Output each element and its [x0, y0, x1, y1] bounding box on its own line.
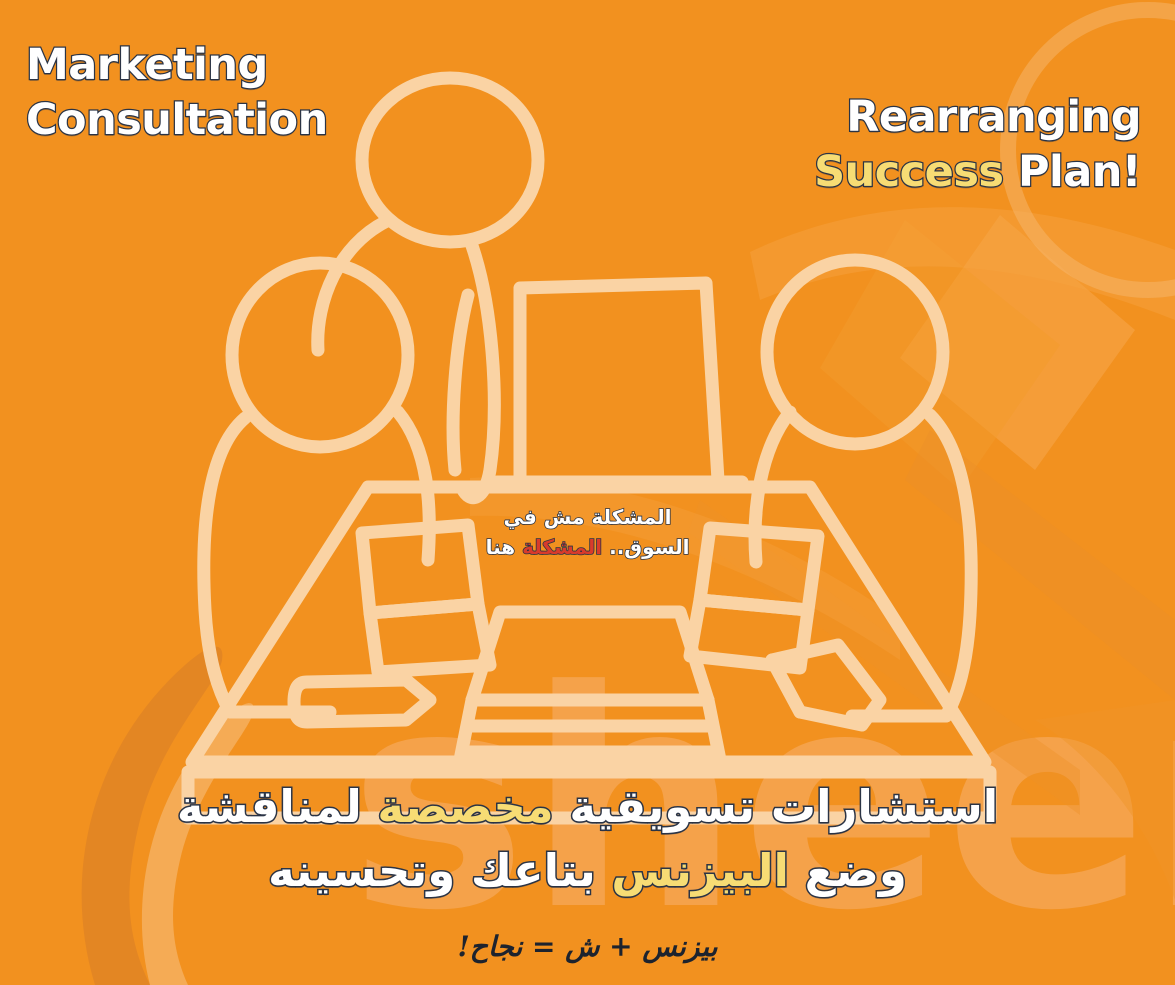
callout-line2: السوق.. المشكلة هنا: [0, 532, 1175, 562]
bottom-headline-line1: استشارات تسويقية مخصصة لمناقشة: [0, 775, 1175, 839]
bottom-line1-start: استشارات تسويقية: [554, 780, 998, 833]
person-back-arm: [453, 295, 468, 470]
book-stack-body: [460, 700, 720, 760]
callout-line2-highlight: المشكلة: [522, 535, 602, 559]
bottom-headline-line2: وضع البيزنس بتاعك وتحسينه: [0, 839, 1175, 903]
person-right-head-icon: [767, 260, 943, 444]
headline-right-line2: Success Plan!: [814, 145, 1141, 200]
callout-line1: المشكلة مش في: [0, 502, 1175, 532]
person-back-head-icon: [362, 78, 538, 242]
headline-right: Rearranging Success Plan!: [814, 90, 1141, 200]
person-back-shoulder: [318, 222, 385, 350]
bottom-line1-end: لمناقشة: [177, 780, 378, 833]
center-callout: المشكلة مش في السوق.. المشكلة هنا: [0, 502, 1175, 562]
person-left-head-icon: [232, 263, 408, 447]
headline-right-rest: Plan!: [1004, 147, 1141, 197]
person-back-body: [462, 240, 494, 498]
laptop-screen: [520, 283, 718, 480]
person-right-body-right: [930, 415, 971, 716]
bottom-headline: استشارات تسويقية مخصصة لمناقشة وضع البيز…: [0, 775, 1175, 903]
headline-left-line1: Marketing: [26, 38, 328, 93]
bottom-line1-highlight: مخصصة: [377, 780, 553, 833]
streak-diagonal-1: [905, 430, 1175, 700]
pencil-right-icon: [772, 645, 880, 725]
band-upper-right: [750, 207, 1175, 320]
handwritten-tagline: بيزنس + ش = نجاح!: [0, 930, 1175, 963]
headline-left-line2: Consultation: [26, 93, 328, 148]
headline-left: Marketing Consultation: [26, 38, 328, 148]
bottom-line2-start: وضع: [789, 844, 907, 897]
paper-left-bottom: [370, 604, 490, 672]
headline-right-line1: Rearranging: [814, 90, 1141, 145]
callout-line2-prefix: السوق..: [602, 535, 689, 559]
paper-right-bottom: [690, 600, 808, 668]
poster-canvas: sheen: [0, 0, 1175, 985]
bottom-line2-end: بتاعك وتحسينه: [268, 844, 611, 897]
headline-right-highlight: Success: [814, 147, 1003, 197]
shape-diamond-right: [900, 215, 1135, 470]
pencil-left-icon: [294, 680, 430, 722]
book-stack-top: [472, 612, 708, 700]
shape-diamond-right-2: [820, 220, 1060, 490]
person-left-body-left: [204, 418, 245, 712]
pencil-right-tip: [772, 660, 800, 712]
callout-line2-suffix: هنا: [486, 535, 523, 559]
bottom-line2-highlight: البيزنس: [611, 844, 789, 897]
